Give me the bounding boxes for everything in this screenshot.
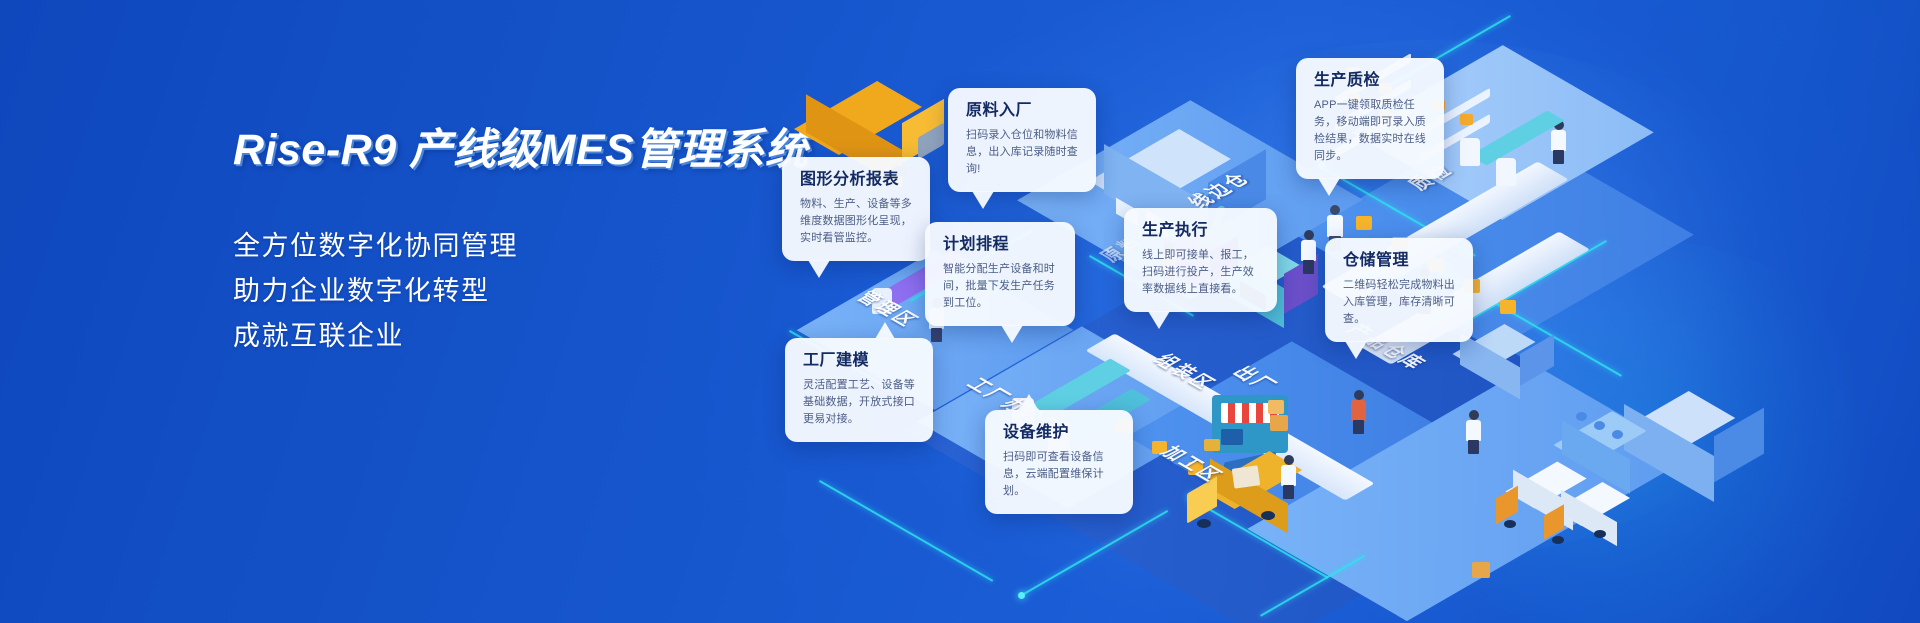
callout-title: 原料入厂 — [966, 101, 1080, 120]
warehouse-machine — [1450, 330, 1570, 420]
callout-pointer — [875, 322, 895, 339]
callout-material-inbound[interactable]: 原料入厂 扫码录入仓位和物料信息，出入库记录随时查询! — [948, 88, 1096, 192]
callout-description: 线上即可接单、报工，扫码进行投产，生产效率数据线上直接看。 — [1142, 247, 1261, 298]
callout-equipment-maintenance[interactable]: 设备维护 扫码即可查看设备信息，云端配置维保计划。 — [985, 410, 1133, 514]
inspection-chair — [1460, 138, 1480, 166]
circuit-node — [1018, 592, 1025, 599]
worker-figure — [1280, 455, 1298, 499]
callout-title: 计划排程 — [943, 235, 1059, 254]
callout-description: APP一键领取质检任务，移动端即可录入质检结果，数据实时在线同步。 — [1314, 97, 1428, 165]
callout-title: 设备维护 — [1003, 423, 1117, 442]
callout-description: 扫码即可查看设备信息，云端配置维保计划。 — [1003, 449, 1117, 500]
callout-title: 工厂建模 — [803, 351, 917, 370]
callout-chart-report[interactable]: 图形分析报表 物料、生产、设备等多维度数据图形化呈现，实时看管监控。 — [782, 157, 930, 261]
callout-description: 二维码轻松完成物料出入库管理，库存清晰可查。 — [1343, 277, 1457, 328]
callout-pointer — [1019, 394, 1039, 411]
callout-pointer — [808, 260, 830, 278]
outbound-truck-icon — [1205, 445, 1335, 525]
callout-production-execution[interactable]: 生产执行 线上即可接单、报工，扫码进行投产，生产效率数据线上直接看。 — [1124, 208, 1277, 312]
callout-factory-modeling[interactable]: 工厂建模 灵活配置工艺、设备等基础数据，开放式接口更易对接。 — [785, 338, 933, 442]
callout-description: 物料、生产、设备等多维度数据图形化呈现，实时看管监控。 — [800, 196, 914, 247]
product-box — [1500, 300, 1516, 314]
callout-warehouse-management[interactable]: 仓储管理 二维码轻松完成物料出入库管理，库存清晰可查。 — [1325, 238, 1473, 342]
worker-figure — [1300, 230, 1318, 274]
worker-figure — [1465, 410, 1483, 454]
callout-title: 仓储管理 — [1343, 251, 1457, 270]
callout-pointer — [1345, 341, 1367, 359]
callout-description: 智能分配生产设备和时间，批量下发生产任务到工位。 — [943, 261, 1059, 312]
circuit-line — [819, 480, 993, 582]
callout-pointer — [1001, 325, 1023, 343]
product-box — [1356, 216, 1372, 230]
worker-figure — [1350, 390, 1368, 434]
callout-plan-scheduling[interactable]: 计划排程 智能分配生产设备和时间，批量下发生产任务到工位。 — [925, 222, 1075, 326]
callout-pointer — [972, 191, 994, 209]
callout-pointer — [1318, 178, 1340, 196]
callout-pointer — [1148, 311, 1170, 329]
callout-description: 灵活配置工艺、设备等基础数据，开放式接口更易对接。 — [803, 377, 917, 428]
callout-description: 扫码录入仓位和物料信息，出入库记录随时查询! — [966, 127, 1080, 178]
inspection-chair — [1496, 158, 1516, 186]
cargo-crate — [1270, 415, 1288, 431]
callout-title: 图形分析报表 — [800, 170, 914, 189]
cargo-crate — [1472, 562, 1490, 578]
callout-title: 生产质检 — [1314, 71, 1428, 90]
storage-tanks — [1550, 418, 1670, 508]
callout-title: 生产执行 — [1142, 221, 1261, 240]
cargo-crate — [1268, 400, 1284, 414]
mes-hero-banner: Rise-R9 产线级MES管理系统 全方位数字化协同管理 助力企业数字化转型 … — [0, 0, 1920, 623]
callout-quality-inspection[interactable]: 生产质检 APP一键领取质检任务，移动端即可录入质检结果，数据实时在线同步。 — [1296, 58, 1444, 179]
